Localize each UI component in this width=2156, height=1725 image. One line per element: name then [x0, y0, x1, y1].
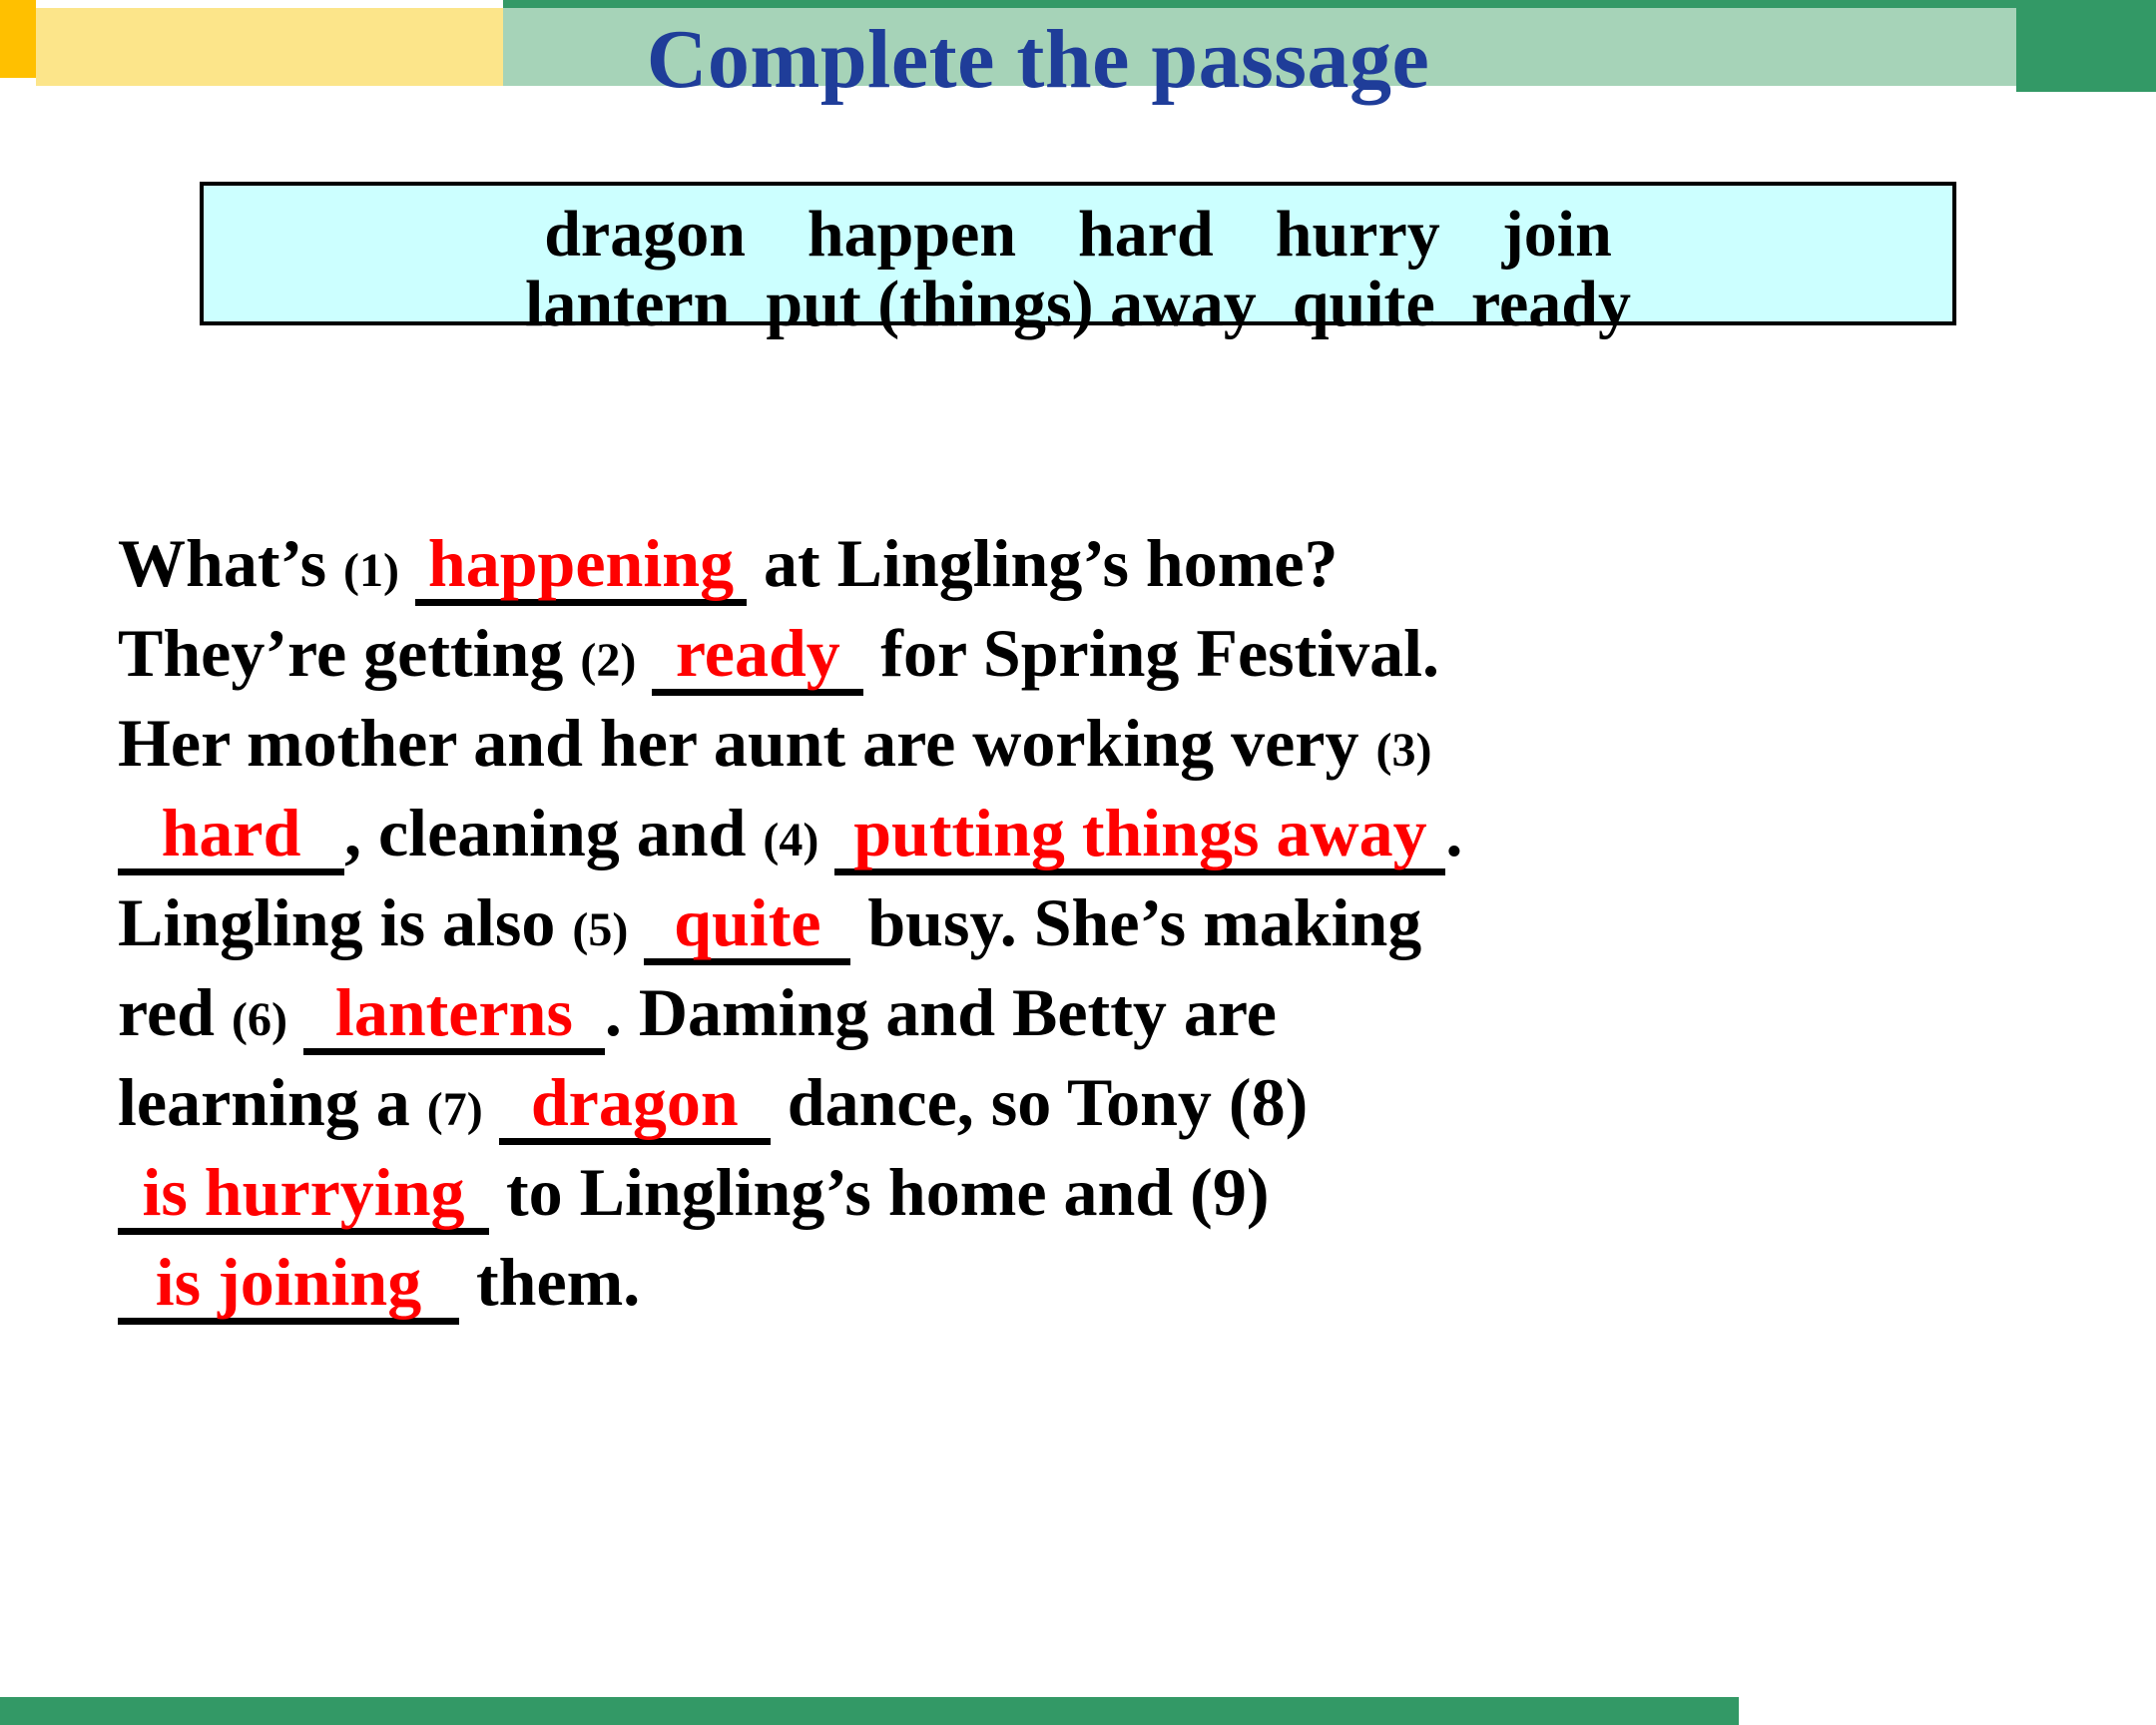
answer-blank-3[interactable]: hard — [118, 798, 344, 875]
passage-text: Lingling is also — [118, 884, 572, 960]
passage-body: What’s (1)happening at Lingling’s home?T… — [118, 519, 2094, 1328]
passage-text: . — [1445, 795, 1462, 870]
blank-number: (3) — [1375, 724, 1431, 777]
passage-text: They’re getting — [118, 615, 580, 691]
passage-text: dance, so Tony (8) — [771, 1064, 1308, 1140]
passage-line: learning a (7)dragon dance, so Tony (8) — [118, 1058, 2094, 1148]
word-bank-item: lantern — [525, 270, 730, 339]
passage-text: . Daming and Betty are — [605, 974, 1277, 1050]
passage-text: for Spring Festival. — [863, 615, 1439, 691]
answer-blank-7[interactable]: dragon — [499, 1067, 771, 1145]
blank-number: (4) — [763, 814, 818, 866]
word-bank-item: hurry — [1276, 200, 1440, 270]
passage-line: red (6)lanterns. Daming and Betty are — [118, 968, 2094, 1058]
answer-blank-6[interactable]: lanterns — [303, 977, 605, 1055]
footer-band-green — [0, 1697, 1739, 1725]
passage-text: , cleaning and — [344, 795, 763, 870]
passage-text: What’s — [118, 525, 343, 601]
passage-text: at Lingling’s home? — [747, 525, 1339, 601]
passage-line: What’s (1)happening at Lingling’s home? — [118, 519, 2094, 609]
answer-blank-8[interactable]: is hurrying — [118, 1157, 489, 1235]
answer-blank-4[interactable]: putting things away — [834, 798, 1445, 875]
passage-line: is hurrying to Lingling’s home and (9) — [118, 1148, 2094, 1238]
passage-text: Her mother and her aunt are working very — [118, 705, 1375, 781]
blank-number: (2) — [580, 634, 636, 687]
word-bank-item: happen — [808, 200, 1016, 270]
page-title: Complete the passage — [0, 18, 2076, 102]
passage-line: Her mother and her aunt are working very… — [118, 699, 2094, 789]
passage-text: to Lingling’s home and (9) — [489, 1154, 1269, 1230]
word-bank-box: dragonhappenhardhurryjoin lanternput (th… — [200, 182, 1956, 325]
passage-text: red — [118, 974, 232, 1050]
passage-line: They’re getting (2)ready for Spring Fest… — [118, 609, 2094, 699]
passage-text: them. — [459, 1244, 640, 1320]
word-bank-item: hard — [1078, 200, 1214, 270]
passage-text: learning a — [118, 1064, 427, 1140]
word-bank-row-1: dragonhappenhardhurryjoin — [204, 200, 1952, 270]
word-bank-row-2: lanternput (things) awayquiteready — [204, 270, 1952, 339]
word-bank-item: quite — [1293, 270, 1435, 339]
word-bank-item: dragon — [544, 200, 746, 270]
blank-number: (7) — [427, 1083, 483, 1136]
answer-blank-9[interactable]: is joining — [118, 1247, 459, 1325]
blank-number: (6) — [232, 993, 287, 1046]
passage-line: hard, cleaning and (4)putting things awa… — [118, 789, 2094, 878]
passage-line: is joining them. — [118, 1238, 2094, 1328]
word-bank-item: join — [1502, 200, 1612, 270]
passage-line: Lingling is also (5)quite busy. She’s ma… — [118, 878, 2094, 968]
answer-blank-1[interactable]: happening — [415, 528, 747, 606]
blank-number: (1) — [343, 544, 399, 597]
word-bank-item: ready — [1471, 270, 1631, 339]
blank-number: (5) — [572, 903, 628, 956]
passage-text: busy. She’s making — [850, 884, 1421, 960]
answer-blank-2[interactable]: ready — [652, 618, 863, 696]
word-bank-item: put (things) away — [766, 270, 1256, 339]
answer-blank-5[interactable]: quite — [644, 887, 850, 965]
